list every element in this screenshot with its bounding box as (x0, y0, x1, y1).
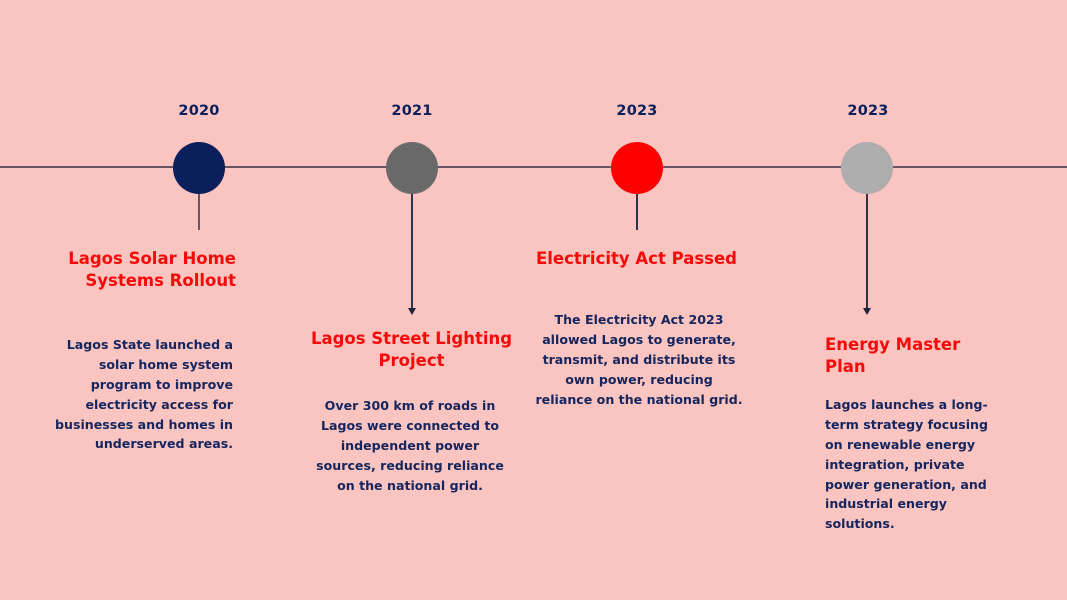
milestone-node-dot[interactable] (173, 142, 225, 194)
milestone-description: Lagos State launched a solar home system… (53, 335, 233, 454)
milestone-title: Electricity Act Passed (535, 248, 738, 270)
milestone-title: Lagos Street Lighting Project (310, 328, 513, 372)
milestone-year-label: 2023 (557, 103, 717, 119)
milestone-connector-line (636, 194, 638, 230)
milestone-title: Lagos Solar Home Systems Rollout (33, 248, 236, 292)
milestone-description: Over 300 km of roads in Lagos were conne… (310, 396, 510, 495)
milestone-connector-arrow-icon (863, 308, 871, 315)
milestone-description: Lagos launches a long-term strategy focu… (825, 395, 993, 534)
milestone-year-label: 2021 (332, 103, 492, 119)
milestone-year-label: 2020 (119, 103, 279, 119)
milestone-connector-line (411, 194, 413, 312)
milestone-year-label: 2023 (788, 103, 948, 119)
timeline-infographic: 2020 Lagos Solar Home Systems Rollout La… (0, 0, 1067, 600)
milestone-node-dot[interactable] (841, 142, 893, 194)
milestone-node-dot[interactable] (611, 142, 663, 194)
milestone-connector-line (198, 194, 200, 230)
milestone-title: Energy Master Plan (825, 334, 1005, 378)
milestone-node-dot[interactable] (386, 142, 438, 194)
timeline-axis-line (0, 166, 1067, 168)
milestone-connector-arrow-icon (408, 308, 416, 315)
milestone-description: The Electricity Act 2023 allowed Lagos t… (535, 310, 743, 409)
milestone-connector-line (866, 194, 868, 312)
